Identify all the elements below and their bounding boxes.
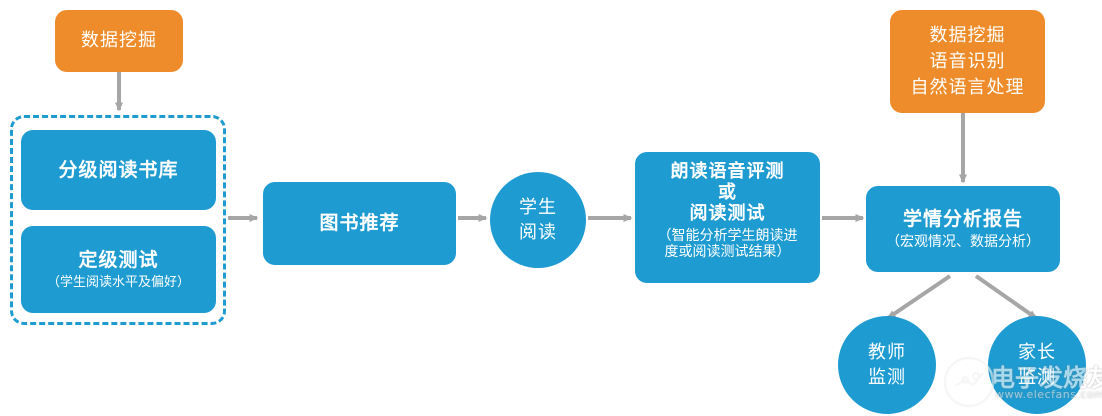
- node-assessment-line3: 阅读测试: [690, 203, 766, 224]
- node-tech-right-line3: 自然语言处理: [911, 77, 1025, 98]
- node-assessment-subtitle-line1: （智能分析学生朗读进: [658, 228, 798, 245]
- arrow-analysis-report-to-parent-monitor: [976, 276, 1036, 318]
- arrow-analysis-report-to-teacher-monitor: [888, 276, 950, 318]
- node-assessment[interactable]: 朗读语音评测 或 阅读测试 （智能分析学生朗读进 度或阅读测试结果）: [635, 152, 820, 283]
- node-book-recommend[interactable]: 图书推荐: [263, 182, 456, 265]
- node-placement-test-title: 定级测试: [78, 249, 158, 271]
- node-assessment-line1: 朗读语音评测: [671, 161, 785, 182]
- node-parent-monitor-line1: 家长: [1018, 342, 1056, 363]
- node-teacher-monitor[interactable]: 教师 监测: [838, 316, 936, 414]
- node-placement-test[interactable]: 定级测试 （学生阅读水平及偏好）: [21, 226, 216, 313]
- node-placement-test-subtitle: （学生阅读水平及偏好）: [47, 275, 190, 290]
- flowchart-canvas: 数据挖掘 分级阅读书库 定级测试 （学生阅读水平及偏好） 图书推荐 学生 阅读 …: [0, 0, 1102, 416]
- node-student-reading-line2: 阅读: [519, 222, 557, 243]
- node-book-recommend-label: 图书推荐: [319, 212, 399, 234]
- node-tech-right-line2: 语音识别: [930, 51, 1006, 72]
- node-analysis-report-subtitle: （宏观情况、数据分析）: [886, 234, 1040, 251]
- node-student-reading[interactable]: 学生 阅读: [490, 172, 586, 268]
- node-teacher-monitor-line2: 监测: [868, 367, 906, 388]
- node-tech-left[interactable]: 数据挖掘: [55, 10, 183, 72]
- node-tech-right[interactable]: 数据挖掘 语音识别 自然语言处理: [890, 10, 1045, 113]
- node-analysis-report[interactable]: 学情分析报告 （宏观情况、数据分析）: [866, 186, 1060, 272]
- node-assessment-subtitle-line2: 度或阅读测试结果）: [665, 244, 791, 261]
- node-graded-library[interactable]: 分级阅读书库: [21, 130, 216, 210]
- node-parent-monitor[interactable]: 家长 监测: [988, 316, 1086, 414]
- node-tech-right-line1: 数据挖掘: [930, 25, 1006, 46]
- node-analysis-report-title: 学情分析报告: [903, 208, 1023, 230]
- node-teacher-monitor-line1: 教师: [868, 342, 906, 363]
- node-tech-left-label: 数据挖掘: [81, 30, 157, 51]
- node-assessment-line2: 或: [718, 182, 737, 203]
- node-student-reading-line1: 学生: [519, 197, 557, 218]
- node-parent-monitor-line2: 监测: [1018, 367, 1056, 388]
- node-graded-library-label: 分级阅读书库: [58, 159, 178, 181]
